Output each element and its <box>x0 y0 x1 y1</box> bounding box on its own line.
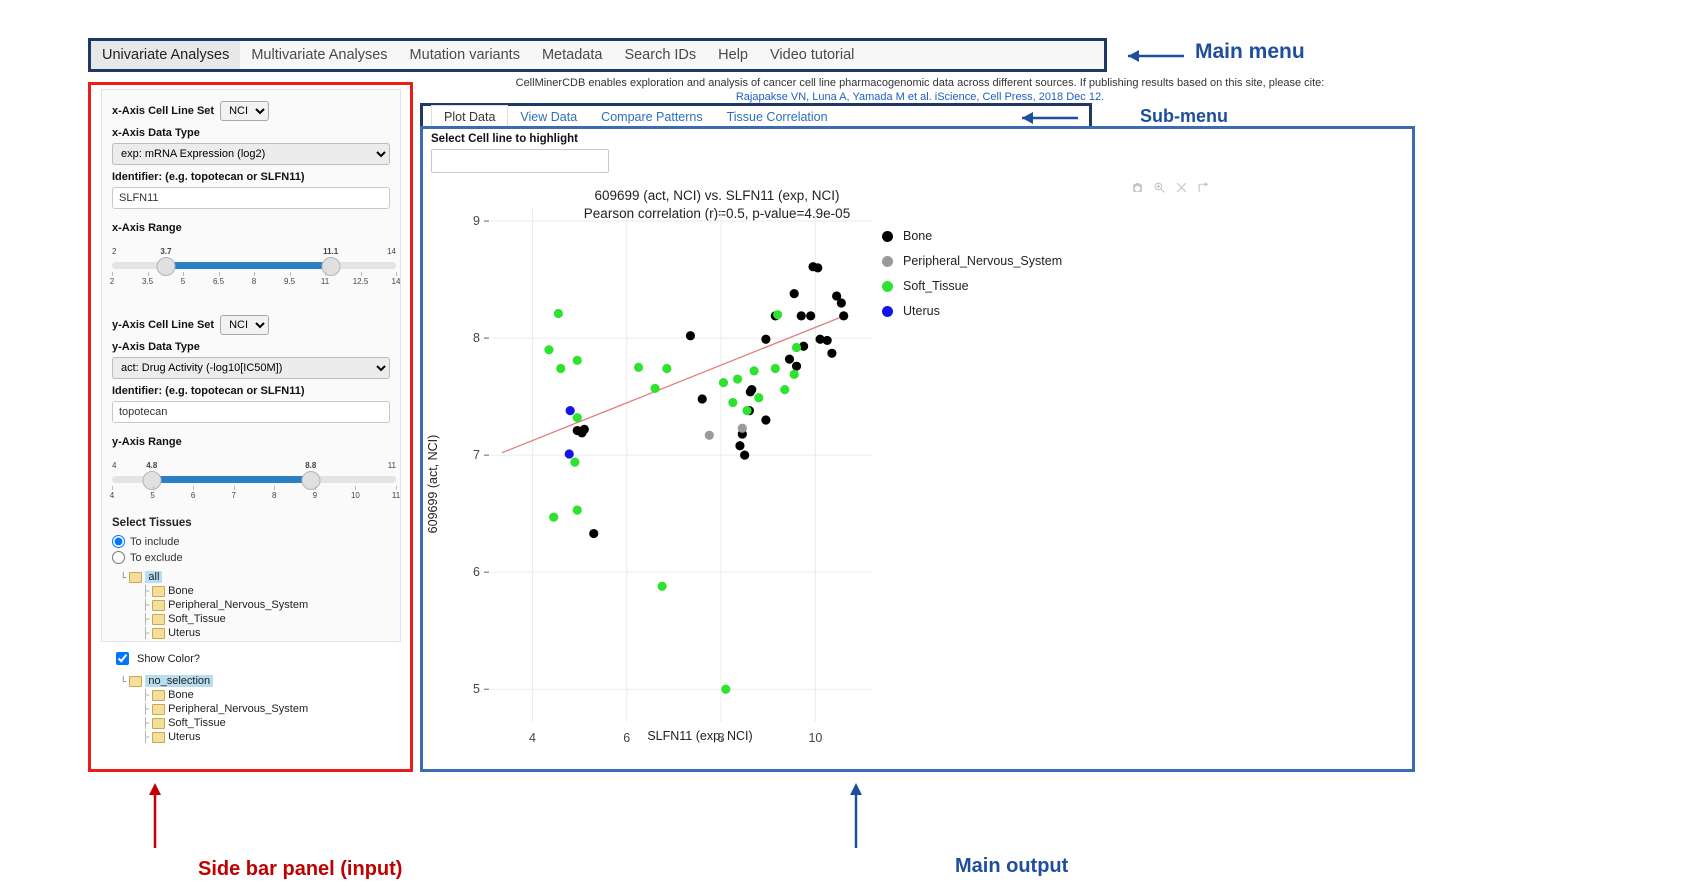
x-axis-data-type-label: x-Axis Data Type <box>112 126 390 140</box>
tissue-exclude-radio[interactable] <box>112 551 125 564</box>
legend-marker-icon <box>882 231 893 242</box>
x-slider-ticks <box>112 272 396 276</box>
scatter-point-soft_tissue[interactable] <box>549 513 558 522</box>
main-menu: Univariate AnalysesMultivariate Analyses… <box>91 41 1104 69</box>
scatter-point-soft_tissue[interactable] <box>650 384 659 393</box>
y-tick-label: 5 <box>473 682 480 696</box>
annotation-sub-menu: Sub-menu <box>1140 106 1228 127</box>
main-menu-item-help[interactable]: Help <box>707 41 759 69</box>
slider-tick <box>361 272 362 276</box>
slider-tick-label: 11 <box>321 277 329 286</box>
main-menu-item-video-tutorial[interactable]: Video tutorial <box>759 41 865 69</box>
tree-branch-icon: ├ <box>142 718 149 729</box>
scatter-point-soft_tissue[interactable] <box>556 364 565 373</box>
tree-item-label: Soft_Tissue <box>168 717 226 729</box>
tree-item-label: Peripheral_Nervous_System <box>168 703 308 715</box>
main-menu-arrow <box>1118 44 1188 68</box>
tree-branch-icon: ├ <box>142 586 149 597</box>
tissue-include-radio-row[interactable]: To include <box>112 535 390 548</box>
tree-branch-icon: ├ <box>142 690 149 701</box>
scatter-point-soft_tissue[interactable] <box>554 309 563 318</box>
sub-menu-arrow <box>1010 108 1082 130</box>
scatter-point-soft_tissue[interactable] <box>742 406 751 415</box>
color-tree-root-label: no_selection <box>145 675 213 687</box>
folder-icon <box>152 732 165 743</box>
tree-item-label: Bone <box>168 689 194 701</box>
y-tick-label: 9 <box>473 214 480 228</box>
slider-tick-label: 6 <box>191 491 195 500</box>
scatter-point-bone[interactable] <box>589 529 598 538</box>
tree-item-label: Uterus <box>168 627 200 639</box>
folder-icon <box>152 690 165 701</box>
scatter-point-soft_tissue[interactable] <box>721 685 730 694</box>
scatter-point-bone[interactable] <box>746 387 755 396</box>
scatter-point-soft_tissue[interactable] <box>771 364 780 373</box>
tissue-include-label: To include <box>130 536 180 548</box>
y-axis-identifier-label: Identifier: (e.g. topotecan or SLFN11) <box>112 384 390 398</box>
legend-label: Uterus <box>903 304 940 318</box>
y-range-low-value: 4.8 <box>146 461 157 470</box>
main-output-panel: Select Cell line to highlight 609699 (ac… <box>420 126 1415 772</box>
folder-icon <box>129 676 142 687</box>
x-range-high-value: 11.1 <box>323 247 338 256</box>
expander-icon[interactable]: └ <box>120 572 126 582</box>
scatter-point-bone[interactable] <box>790 289 799 298</box>
folder-icon <box>152 628 165 639</box>
legend-marker-icon <box>882 256 893 267</box>
slider-tick <box>325 272 326 276</box>
slider-tick <box>274 486 275 490</box>
slider-tick <box>396 272 397 276</box>
folder-icon <box>152 718 165 729</box>
sidebar-arrow <box>144 780 166 852</box>
tree-item-label: Bone <box>168 585 194 597</box>
scatter-point-soft_tissue[interactable] <box>749 366 758 375</box>
slider-tick <box>153 486 154 490</box>
slider-tick-label: 14 <box>392 277 401 286</box>
main-menu-item-multivariate-analyses[interactable]: Multivariate Analyses <box>240 41 398 69</box>
legend-label: Soft_Tissue <box>903 279 969 293</box>
slider-tick-label: 6.5 <box>213 277 224 286</box>
slider-tick <box>112 486 113 490</box>
x-range-max-end: 14 <box>387 247 396 256</box>
scatter-point-peripheral_nervous_system[interactable] <box>705 431 714 440</box>
x-axis-cell-line-set-label: x-Axis Cell Line Set <box>112 104 214 118</box>
slider-tick-label: 8 <box>272 491 276 500</box>
legend-label: Peripheral_Nervous_System <box>903 254 1062 268</box>
highlight-cell-line-label: Select Cell line to highlight <box>431 133 578 145</box>
folder-icon <box>152 704 165 715</box>
slider-tick <box>148 272 149 276</box>
sub-menu: Plot DataView DataCompare PatternsTissue… <box>423 106 1089 127</box>
slider-tick-label: 8 <box>252 277 256 286</box>
y-axis-identifier-input[interactable] <box>112 401 390 423</box>
y-tick-label: 6 <box>473 565 480 579</box>
y-axis-range-label: y-Axis Range <box>112 435 390 449</box>
show-color-label: Show Color? <box>137 653 200 665</box>
slider-tick-label: 11 <box>392 491 400 500</box>
tree-item-uterus[interactable]: ├Uterus <box>142 731 390 743</box>
tree-item-uterus[interactable]: ├Uterus <box>142 627 390 639</box>
main-menu-bar: Univariate AnalysesMultivariate Analyses… <box>88 38 1107 72</box>
sub-tab-tissue-correlation[interactable]: Tissue Correlation <box>715 106 840 128</box>
scatter-point-bone[interactable] <box>797 311 806 320</box>
slider-tick-label: 2 <box>110 277 114 286</box>
slider-tick <box>193 486 194 490</box>
x-axis-data-type-select[interactable]: exp: mRNA Expression (log2) <box>112 143 390 165</box>
tree-item-label: Peripheral_Nervous_System <box>168 599 308 611</box>
expander-icon[interactable]: └ <box>120 676 126 686</box>
tree-branch-icon: ├ <box>142 704 149 715</box>
tree-item-peripheral_nervous_system[interactable]: ├Peripheral_Nervous_System <box>142 703 390 715</box>
plot-legend: BonePeripheral_Nervous_SystemSoft_Tissue… <box>882 229 1062 329</box>
x-axis-range-slider[interactable]: 2 14 3.7 11.1 23.556.589.51112.514 <box>112 247 396 289</box>
scatter-point-soft_tissue[interactable] <box>773 310 782 319</box>
main-menu-item-univariate-analyses[interactable]: Univariate Analyses <box>91 41 240 69</box>
legend-item-bone[interactable]: Bone <box>882 229 1062 243</box>
slider-tick-label: 5 <box>181 277 185 286</box>
scatter-point-bone[interactable] <box>686 331 695 340</box>
tree-branch-icon: ├ <box>142 732 149 743</box>
y-slider-tick-labels: 4567891011 <box>112 491 396 502</box>
sub-tab-compare-patterns[interactable]: Compare Patterns <box>589 106 714 128</box>
scatter-point-soft_tissue[interactable] <box>780 385 789 394</box>
y-range-min-end: 4 <box>112 461 116 470</box>
legend-item-uterus[interactable]: Uterus <box>882 304 1062 318</box>
tissue-tree: └ all ├Bone├Peripheral_Nervous_System├So… <box>120 571 390 639</box>
tree-branch-icon: ├ <box>142 628 149 639</box>
tree-item-label: Uterus <box>168 731 200 743</box>
y-axis-cell-line-set-select[interactable]: NCI <box>220 315 269 335</box>
folder-icon <box>129 572 142 583</box>
slider-tick-label: 12.5 <box>353 277 369 286</box>
scatter-point-soft_tissue[interactable] <box>544 345 553 354</box>
slider-tick-label: 7 <box>231 491 235 500</box>
scatter-point-soft_tissue[interactable] <box>573 506 582 515</box>
scatter-point-uterus[interactable] <box>565 449 574 458</box>
x-axis-cell-line-set-select[interactable]: NCI <box>220 101 269 121</box>
tree-item-label: Soft_Tissue <box>168 613 226 625</box>
x-axis-range-label: x-Axis Range <box>112 221 390 235</box>
scatter-point-bone[interactable] <box>813 263 822 272</box>
slider-tick-label: 10 <box>351 491 360 500</box>
scatter-point-soft_tissue[interactable] <box>733 374 742 383</box>
x-axis-identifier-input[interactable] <box>112 187 390 209</box>
color-tissue-tree: └ no_selection ├Bone├Peripheral_Nervous_… <box>120 675 390 743</box>
trend-line <box>502 317 842 453</box>
y-axis-range-slider[interactable]: 4 11 4.8 8.8 4567891011 <box>112 461 396 503</box>
y-axis-data-type-select[interactable]: act: Drug Activity (-log10[IC50M]) <box>112 357 390 379</box>
scatter-point-soft_tissue[interactable] <box>662 364 671 373</box>
tree-item-bone[interactable]: ├Bone <box>142 585 390 597</box>
highlight-cell-line-input[interactable] <box>431 149 609 173</box>
tree-item-peripheral_nervous_system[interactable]: ├Peripheral_Nervous_System <box>142 599 390 611</box>
x-axis-cell-line-set-row: x-Axis Cell Line Set NCI <box>112 101 390 121</box>
annotation-sidebar: Side bar panel (input) <box>198 858 402 881</box>
sidebar-panel: x-Axis Cell Line Set NCI x-Axis Data Typ… <box>88 82 413 772</box>
scatter-point-soft_tissue[interactable] <box>634 363 643 372</box>
slider-tick <box>315 486 316 490</box>
citation-block: CellMinerCDB enables exploration and ana… <box>420 76 1420 104</box>
scatter-point-soft_tissue[interactable] <box>658 582 667 591</box>
sub-tab-plot-data[interactable]: Plot Data <box>431 105 508 128</box>
slider-tick <box>219 272 220 276</box>
x-tick-label: 6 <box>623 731 630 745</box>
scatter-point-bone[interactable] <box>785 355 794 364</box>
citation-description: CellMinerCDB enables exploration and ana… <box>420 76 1420 90</box>
y-tick-label: 7 <box>473 448 480 462</box>
folder-icon <box>152 586 165 597</box>
scatter-point-soft_tissue[interactable] <box>570 458 579 467</box>
y-slider-ticks <box>112 486 396 490</box>
y-range-max-end: 11 <box>388 461 396 470</box>
y-range-high-value: 8.8 <box>305 461 316 470</box>
scatter-point-soft_tissue[interactable] <box>573 413 582 422</box>
annotation-main-menu: Main menu <box>1195 40 1305 64</box>
tree-item-soft_tissue[interactable]: ├Soft_Tissue <box>142 717 390 729</box>
tissue-exclude-label: To exclude <box>130 552 183 564</box>
main-output-arrow <box>845 780 867 852</box>
slider-tick <box>355 486 356 490</box>
tree-item-bone[interactable]: ├Bone <box>142 689 390 701</box>
scatter-point-bone[interactable] <box>761 415 770 424</box>
main-menu-item-metadata[interactable]: Metadata <box>531 41 613 69</box>
legend-label: Bone <box>903 229 932 243</box>
tissue-tree-root[interactable]: └ all <box>120 571 390 583</box>
y-slider-fill <box>152 476 311 483</box>
slider-tick-label: 9 <box>313 491 317 500</box>
y-axis-cell-line-set-row: y-Axis Cell Line Set NCI <box>112 315 390 335</box>
slider-tick <box>112 272 113 276</box>
slider-tick <box>254 272 255 276</box>
select-tissues-title: Select Tissues <box>112 517 390 529</box>
x-tick-label: 8 <box>718 731 725 745</box>
scatter-point-bone[interactable] <box>580 425 589 434</box>
scatter-point-soft_tissue[interactable] <box>719 378 728 387</box>
slider-tick <box>183 272 184 276</box>
tree-branch-icon: ├ <box>142 600 149 611</box>
scatter-point-peripheral_nervous_system[interactable] <box>738 424 747 433</box>
legend-item-soft_tissue[interactable]: Soft_Tissue <box>882 279 1062 293</box>
main-menu-item-search-ids[interactable]: Search IDs <box>613 41 707 69</box>
annotation-main-output: Main output <box>955 855 1068 878</box>
x-tick-label: 10 <box>808 731 822 745</box>
tree-item-soft_tissue[interactable]: ├Soft_Tissue <box>142 613 390 625</box>
slider-tick-label: 9.5 <box>284 277 295 286</box>
x-slider-fill <box>166 262 331 269</box>
legend-marker-icon <box>882 281 893 292</box>
folder-icon <box>152 600 165 611</box>
tissue-tree-children: ├Bone├Peripheral_Nervous_System├Soft_Tis… <box>120 585 390 639</box>
slider-tick-label: 5 <box>150 491 154 500</box>
scatter-point-soft_tissue[interactable] <box>790 370 799 379</box>
x-range-min-end: 2 <box>112 247 116 256</box>
scatter-point-bone[interactable] <box>816 335 825 344</box>
sidebar-form: x-Axis Cell Line Set NCI x-Axis Data Typ… <box>101 89 401 642</box>
scatter-point-bone[interactable] <box>839 311 848 320</box>
scatter-point-soft_tissue[interactable] <box>792 343 801 352</box>
folder-icon <box>152 614 165 625</box>
scatter-point-bone[interactable] <box>761 335 770 344</box>
color-tree-root[interactable]: └ no_selection <box>120 675 390 687</box>
legend-item-peripheral_nervous_system[interactable]: Peripheral_Nervous_System <box>882 254 1062 268</box>
x-axis-identifier-label: Identifier: (e.g. topotecan or SLFN11) <box>112 170 390 184</box>
color-tree-children: ├Bone├Peripheral_Nervous_System├Soft_Tis… <box>120 689 390 743</box>
scatter-point-bone[interactable] <box>740 451 749 460</box>
scatter-point-bone[interactable] <box>735 441 744 450</box>
main-menu-item-mutation-variants[interactable]: Mutation variants <box>399 41 531 69</box>
sub-tab-view-data[interactable]: View Data <box>508 106 589 128</box>
show-color-row[interactable]: Show Color? <box>112 649 390 668</box>
y-tick-label: 8 <box>473 331 480 345</box>
scatter-point-bone[interactable] <box>837 298 846 307</box>
scatter-point-soft_tissue[interactable] <box>754 393 763 402</box>
scatter-point-bone[interactable] <box>792 362 801 371</box>
citation-reference-link[interactable]: Rajapakse VN, Luna A, Yamada M et al. iS… <box>420 90 1420 104</box>
tree-branch-icon: ├ <box>142 614 149 625</box>
x-tick-label: 4 <box>529 731 536 745</box>
x-slider-tick-labels: 23.556.589.51112.514 <box>112 277 396 288</box>
slider-tick-label: 4 <box>110 491 114 500</box>
slider-tick <box>234 486 235 490</box>
tissue-tree-root-label: all <box>145 571 162 583</box>
scatter-point-soft_tissue[interactable] <box>573 356 582 365</box>
scatter-point-soft_tissue[interactable] <box>728 398 737 407</box>
tissue-exclude-radio-row[interactable]: To exclude <box>112 551 390 564</box>
x-range-low-value: 3.7 <box>160 247 171 256</box>
y-axis-cell-line-set-label: y-Axis Cell Line Set <box>112 318 214 332</box>
tissue-include-radio[interactable] <box>112 535 125 548</box>
slider-tick <box>396 486 397 490</box>
legend-marker-icon <box>882 306 893 317</box>
slider-tick-label: 3.5 <box>142 277 153 286</box>
slider-tick <box>290 272 291 276</box>
y-axis-data-type-label: y-Axis Data Type <box>112 340 390 354</box>
show-color-checkbox[interactable] <box>116 652 129 665</box>
scatter-point-bone[interactable] <box>806 311 815 320</box>
scatter-point-bone[interactable] <box>827 349 836 358</box>
scatter-plot: 609699 (act, NCI) vs. SLFN11 (exp, NCI) … <box>427 177 1410 767</box>
scatter-point-uterus[interactable] <box>566 406 575 415</box>
scatter-point-bone[interactable] <box>698 394 707 403</box>
